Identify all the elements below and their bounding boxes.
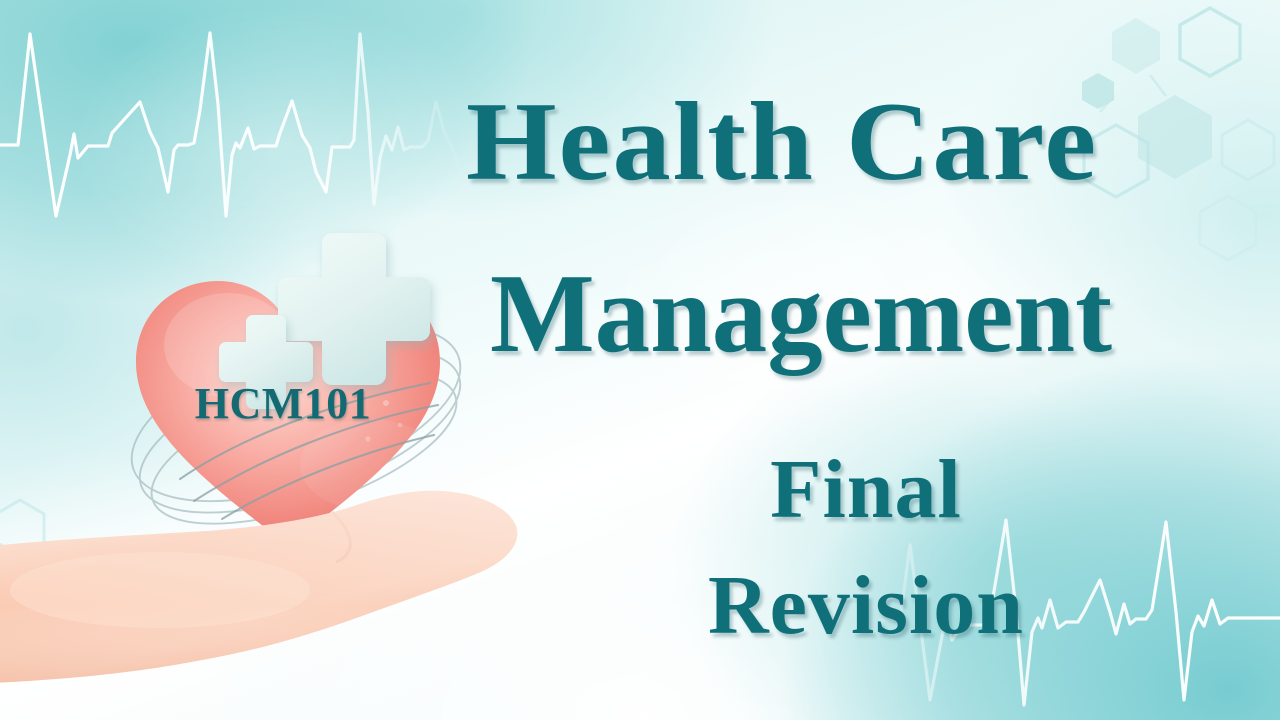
subtitle-line-2: Revision: [452, 564, 1280, 648]
ecg-line-icon-top-left: [0, 33, 488, 216]
title-line-1: Health Care: [466, 86, 1098, 198]
title-block: Health Care Management Final Revision: [452, 0, 1280, 720]
slide-canvas: HCM101: [0, 0, 1280, 720]
subtitle-line-1: Final: [452, 448, 1280, 532]
title-line-2: Management: [490, 258, 1112, 370]
course-code-label: HCM101: [118, 378, 448, 429]
